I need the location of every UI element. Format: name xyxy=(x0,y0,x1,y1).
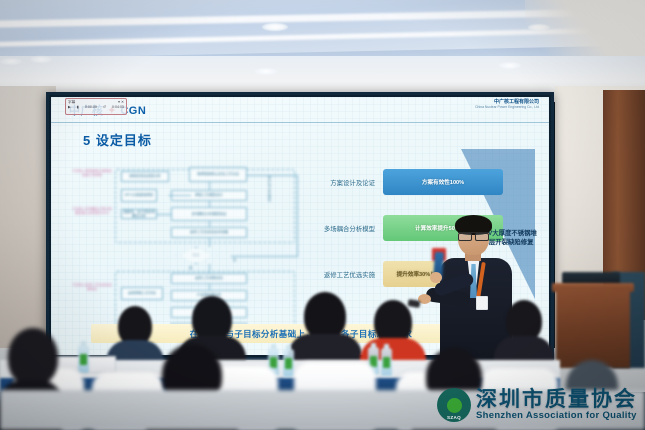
flow-connector xyxy=(247,175,297,176)
glasses-icon xyxy=(458,232,489,239)
presentation-photo-scene: 中广核 ✦ CGN 中广核工程有限公司 China Nuclear Power … xyxy=(0,0,645,430)
audience-person xyxy=(494,300,554,366)
audience-person xyxy=(288,292,362,366)
flow-connector xyxy=(297,175,298,257)
presenter-right-hand xyxy=(430,272,442,283)
flow-box: 返修焊接工艺评定 xyxy=(121,287,163,300)
audience-head xyxy=(304,292,346,340)
flow-box: 返修工艺优选及技术准备 xyxy=(171,227,247,238)
flow-box: 缺陷检测及成因分析 xyxy=(121,171,169,182)
flow-connector xyxy=(157,214,171,215)
play-icon[interactable]: ▶ xyxy=(68,105,71,110)
stop-icon[interactable]: ▮ xyxy=(77,105,79,110)
flow-connector xyxy=(209,264,210,273)
media-player-overlay[interactable]: 字幕 ▾ ✕ ▶ ▮ 0:00:09 ↺ 0:04:05 xyxy=(65,98,127,115)
flow-yes-label: 是 xyxy=(189,265,192,270)
ceiling-downlight xyxy=(262,23,288,31)
flow-box: 堆焊层缺陷认定及工艺论证 xyxy=(189,167,247,182)
flow-box: 返修工艺参数优化 xyxy=(171,273,247,284)
watermark-en: Shenzhen Association for Quality xyxy=(476,411,637,421)
ceiling-downlight xyxy=(0,58,22,65)
flow-box: 多场耦合分析模型验证 xyxy=(171,207,247,221)
water-bottle xyxy=(381,348,392,376)
flow-connector xyxy=(209,201,210,207)
flow-connector xyxy=(231,256,297,257)
company-name-en: China Nuclear Power Engineering Co., Ltd xyxy=(475,106,539,110)
goal-label: 返修工艺优选实施 xyxy=(321,270,383,279)
goal-bar: 方案有效性100% xyxy=(383,169,503,195)
ceiling-downlight xyxy=(30,56,52,63)
player-duration: 0:04:05 xyxy=(112,105,124,110)
flow-decision-label: 验证 xyxy=(193,253,200,258)
szaq-logo-text: SZAQ xyxy=(437,415,471,420)
flow-box: 温度场、应力场多场耦合分析 xyxy=(121,209,157,219)
flow-connector xyxy=(209,221,210,227)
watermark: SZAQ 深圳市质量协会 Shenzhen Association for Qu… xyxy=(437,388,637,422)
podium xyxy=(556,288,630,368)
flow-box: RPV大厚度堆焊层 xyxy=(121,189,157,202)
goal-label: 多场耦合分析模型 xyxy=(321,224,383,233)
player-current-time: 0:00:09 xyxy=(85,105,97,110)
flow-note-3: 子目标3 返修工艺优选及实施验证 xyxy=(71,283,113,292)
flow-note-2: 子目标2 多场耦合计算分析模型建立效率提升50% xyxy=(71,207,113,216)
flow-connector xyxy=(209,182,210,190)
flow-side-label: 设计与工艺迭代 xyxy=(267,175,272,202)
loop-icon[interactable]: ↺ xyxy=(103,105,106,110)
flow-note-1: 子目标1 焊接缺陷方案制定及施工有效性 xyxy=(71,169,113,178)
company-name-block: 中广核工程有限公司 China Nuclear Power Engineerin… xyxy=(475,100,539,110)
watermark-text: 深圳市质量协会 Shenzhen Association for Quality xyxy=(476,389,637,422)
flow-connector xyxy=(209,284,210,290)
szaq-logo-icon: SZAQ xyxy=(437,388,471,422)
flow-connector xyxy=(209,238,210,247)
ceiling-downlight xyxy=(255,68,277,75)
water-bottle xyxy=(283,349,294,377)
szaq-logo-dot xyxy=(447,398,462,413)
flow-decision: 验证 xyxy=(175,247,217,264)
ceiling-downlight xyxy=(499,62,521,69)
water-bottle xyxy=(78,345,89,373)
goal-label: 方案设计及论证 xyxy=(321,178,383,187)
goal-value: 方案有效性100% xyxy=(422,178,464,186)
presenter-badge xyxy=(476,296,488,310)
watermark-cn: 深圳市质量协会 xyxy=(476,389,637,412)
audience-head xyxy=(8,328,58,386)
flow-connector xyxy=(169,195,191,196)
slide-title: 5 设定目标 xyxy=(83,130,152,149)
flow-no-label: 否 xyxy=(233,257,236,262)
goal-row-1: 方案设计及论证 方案有效性100% xyxy=(321,169,503,195)
